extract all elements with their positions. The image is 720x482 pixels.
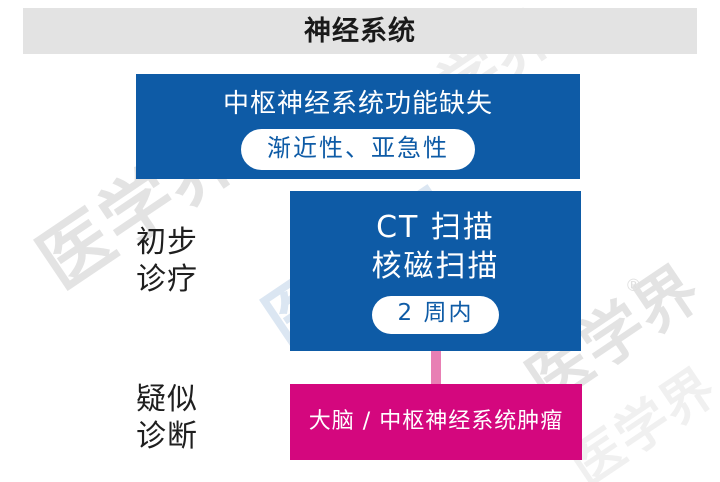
flow-box-symptoms: 中枢神经系统功能缺失 渐近性、亚急性 xyxy=(136,74,580,179)
stage-label-suspected-diagnosis: 疑似 诊断 xyxy=(136,382,198,455)
registered-trademark-icon: ® xyxy=(625,276,642,296)
stage-label-line: 诊断 xyxy=(136,419,198,456)
flow-connector xyxy=(431,351,441,385)
flow-box-text: 大脑 / 中枢神经系统肿瘤 xyxy=(309,409,563,435)
flow-box-pill-timeframe: 2 周内 xyxy=(372,296,500,334)
flow-box-heading: CT 扫描 核磁扫描 xyxy=(372,208,500,286)
flow-box-pill-onset: 渐近性、亚急性 xyxy=(241,129,475,170)
stage-label-line: 疑似 xyxy=(136,382,198,419)
stage-label-line: 诊疗 xyxy=(136,262,198,299)
stage-label-line: 初步 xyxy=(136,225,198,262)
page-title: 神经系统 xyxy=(304,18,416,45)
flow-box-heading-line: 核磁扫描 xyxy=(372,247,500,286)
header-bar: 神经系统 xyxy=(23,8,697,54)
flow-box-imaging: CT 扫描 核磁扫描 2 周内 xyxy=(290,191,581,351)
flow-box-heading-line: CT 扫描 xyxy=(372,208,500,247)
stage-label-initial-treatment: 初步 诊疗 xyxy=(136,225,198,298)
flow-box-heading: 中枢神经系统功能缺失 xyxy=(223,89,493,120)
diagram-canvas: 医学界 医学界 医学界 医学界 医学界 ® 神经系统 初步 诊疗 疑似 诊断 中… xyxy=(0,0,720,482)
flow-box-diagnosis: 大脑 / 中枢神经系统肿瘤 xyxy=(290,384,582,460)
